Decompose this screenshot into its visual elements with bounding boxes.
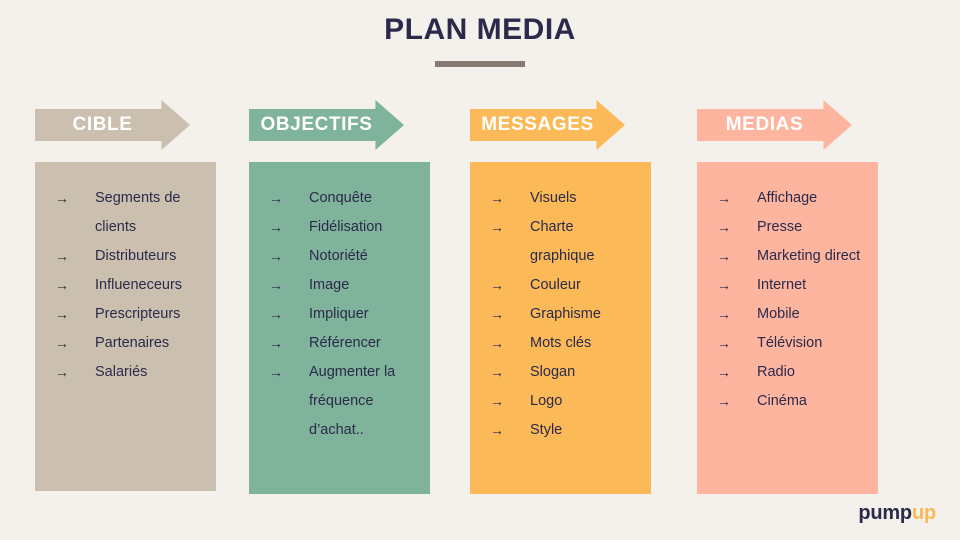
arrow-bullet-icon: → xyxy=(55,358,69,387)
list-item-label: Influeneceurs xyxy=(95,277,182,293)
list-item-label: Fidélisation xyxy=(309,219,382,235)
list-item-label: Internet xyxy=(757,277,806,293)
columns-container: CIBLE →Segments de clients →Distributeur… xyxy=(35,100,925,500)
arrow-bullet-icon: → xyxy=(269,213,283,242)
arrow-bullet-icon: → xyxy=(269,358,283,387)
column-cible: CIBLE →Segments de clients →Distributeur… xyxy=(35,100,216,491)
list-item: →Mobile xyxy=(707,300,868,329)
list-item: →Conquête xyxy=(259,184,420,213)
list-item: →Affichage xyxy=(707,184,868,213)
list-item-label: Mobile xyxy=(757,306,800,322)
arrow-bullet-icon: → xyxy=(490,271,504,300)
list-item: →Impliquer xyxy=(259,300,420,329)
list-item: →Salariés xyxy=(45,358,206,387)
arrow-bullet-icon: → xyxy=(717,358,731,387)
list-item: →Fidélisation xyxy=(259,213,420,242)
item-list: →Conquête →Fidélisation →Notoriété →Imag… xyxy=(259,184,420,445)
page-title: PLAN MEDIA xyxy=(0,12,960,48)
list-item-label: Slogan xyxy=(530,364,575,380)
list-item: →Prescripteurs xyxy=(45,300,206,329)
arrow-bullet-icon: → xyxy=(490,184,504,213)
list-item: →Charte graphique xyxy=(480,213,641,271)
list-item: →Influeneceurs xyxy=(45,271,206,300)
arrow-bullet-icon: → xyxy=(490,358,504,387)
column-panel-messages: →Visuels →Charte graphique →Couleur →Gra… xyxy=(470,162,651,494)
column-header-label: MEDIAS xyxy=(697,100,832,150)
arrow-bullet-icon: → xyxy=(269,271,283,300)
list-item-label: Marketing direct xyxy=(757,248,860,264)
list-item: →Distributeurs xyxy=(45,242,206,271)
column-header-label: OBJECTIFS xyxy=(249,100,384,150)
arrow-bullet-icon: → xyxy=(55,329,69,358)
list-item-label: Style xyxy=(530,422,562,438)
list-item-label: Segments de clients xyxy=(95,190,180,235)
list-item: →Image xyxy=(259,271,420,300)
list-item-label: Augmenter la fréquence d’achat.. xyxy=(309,364,395,438)
arrow-bullet-icon: → xyxy=(490,329,504,358)
list-item-label: Presse xyxy=(757,219,802,235)
column-header-label: CIBLE xyxy=(35,100,170,150)
column-panel-medias: →Affichage →Presse →Marketing direct →In… xyxy=(697,162,878,494)
list-item-label: Image xyxy=(309,277,349,293)
list-item-label: Télévision xyxy=(757,335,822,351)
column-header-medias: MEDIAS xyxy=(697,100,878,150)
list-item-label: Affichage xyxy=(757,190,817,206)
column-header-label: MESSAGES xyxy=(470,100,605,150)
brand-logo: pumpup xyxy=(858,502,936,524)
column-header-messages: MESSAGES xyxy=(470,100,651,150)
list-item-label: Prescripteurs xyxy=(95,306,180,322)
list-item: →Logo xyxy=(480,387,641,416)
item-list: →Visuels →Charte graphique →Couleur →Gra… xyxy=(480,184,641,445)
arrow-bullet-icon: → xyxy=(490,213,504,242)
list-item-label: Conquête xyxy=(309,190,372,206)
arrow-bullet-icon: → xyxy=(717,387,731,416)
list-item-label: Distributeurs xyxy=(95,248,176,264)
arrow-bullet-icon: → xyxy=(269,242,283,271)
arrow-bullet-icon: → xyxy=(717,242,731,271)
list-item: →Cinéma xyxy=(707,387,868,416)
arrow-bullet-icon: → xyxy=(269,300,283,329)
arrow-bullet-icon: → xyxy=(55,271,69,300)
list-item-label: Logo xyxy=(530,393,562,409)
item-list: →Affichage →Presse →Marketing direct →In… xyxy=(707,184,868,416)
list-item-label: Partenaires xyxy=(95,335,169,351)
title-block: PLAN MEDIA xyxy=(0,12,960,67)
list-item-label: Notoriété xyxy=(309,248,368,264)
column-objectifs: OBJECTIFS →Conquête →Fidélisation →Notor… xyxy=(249,100,430,494)
list-item-label: Visuels xyxy=(530,190,576,206)
list-item-label: Graphisme xyxy=(530,306,601,322)
list-item: →Style xyxy=(480,416,641,445)
arrow-bullet-icon: → xyxy=(269,329,283,358)
list-item: →Télévision xyxy=(707,329,868,358)
column-header-cible: CIBLE xyxy=(35,100,216,150)
column-panel-objectifs: →Conquête →Fidélisation →Notoriété →Imag… xyxy=(249,162,430,494)
column-medias: MEDIAS →Affichage →Presse →Marketing dir… xyxy=(697,100,878,494)
list-item: →Visuels xyxy=(480,184,641,213)
list-item-label: Impliquer xyxy=(309,306,369,322)
list-item: →Presse xyxy=(707,213,868,242)
list-item: →Partenaires xyxy=(45,329,206,358)
column-messages: MESSAGES →Visuels →Charte graphique →Cou… xyxy=(470,100,651,494)
list-item: →Slogan xyxy=(480,358,641,387)
arrow-bullet-icon: → xyxy=(717,300,731,329)
arrow-bullet-icon: → xyxy=(717,329,731,358)
arrow-bullet-icon: → xyxy=(717,184,731,213)
list-item-label: Référencer xyxy=(309,335,381,351)
arrow-bullet-icon: → xyxy=(55,242,69,271)
arrow-bullet-icon: → xyxy=(269,184,283,213)
list-item-label: Couleur xyxy=(530,277,581,293)
list-item: →Notoriété xyxy=(259,242,420,271)
list-item: →Segments de clients xyxy=(45,184,206,242)
logo-text-primary: pump xyxy=(858,502,912,524)
arrow-bullet-icon: → xyxy=(55,184,69,213)
list-item: →Augmenter la fréquence d’achat.. xyxy=(259,358,420,445)
arrow-bullet-icon: → xyxy=(490,300,504,329)
arrow-bullet-icon: → xyxy=(55,300,69,329)
logo-text-accent: up xyxy=(912,502,936,524)
list-item-label: Mots clés xyxy=(530,335,591,351)
item-list: →Segments de clients →Distributeurs →Inf… xyxy=(45,184,206,387)
list-item-label: Charte graphique xyxy=(530,219,595,264)
list-item-label: Cinéma xyxy=(757,393,807,409)
list-item-label: Salariés xyxy=(95,364,147,380)
title-underline xyxy=(435,61,525,67)
list-item: →Graphisme xyxy=(480,300,641,329)
column-panel-cible: →Segments de clients →Distributeurs →Inf… xyxy=(35,162,216,491)
list-item: →Référencer xyxy=(259,329,420,358)
list-item: →Mots clés xyxy=(480,329,641,358)
arrow-bullet-icon: → xyxy=(717,213,731,242)
arrow-bullet-icon: → xyxy=(490,416,504,445)
list-item: →Couleur xyxy=(480,271,641,300)
list-item-label: Radio xyxy=(757,364,795,380)
arrow-bullet-icon: → xyxy=(717,271,731,300)
list-item: →Internet xyxy=(707,271,868,300)
list-item: →Marketing direct xyxy=(707,242,868,271)
column-header-objectifs: OBJECTIFS xyxy=(249,100,430,150)
list-item: →Radio xyxy=(707,358,868,387)
arrow-bullet-icon: → xyxy=(490,387,504,416)
